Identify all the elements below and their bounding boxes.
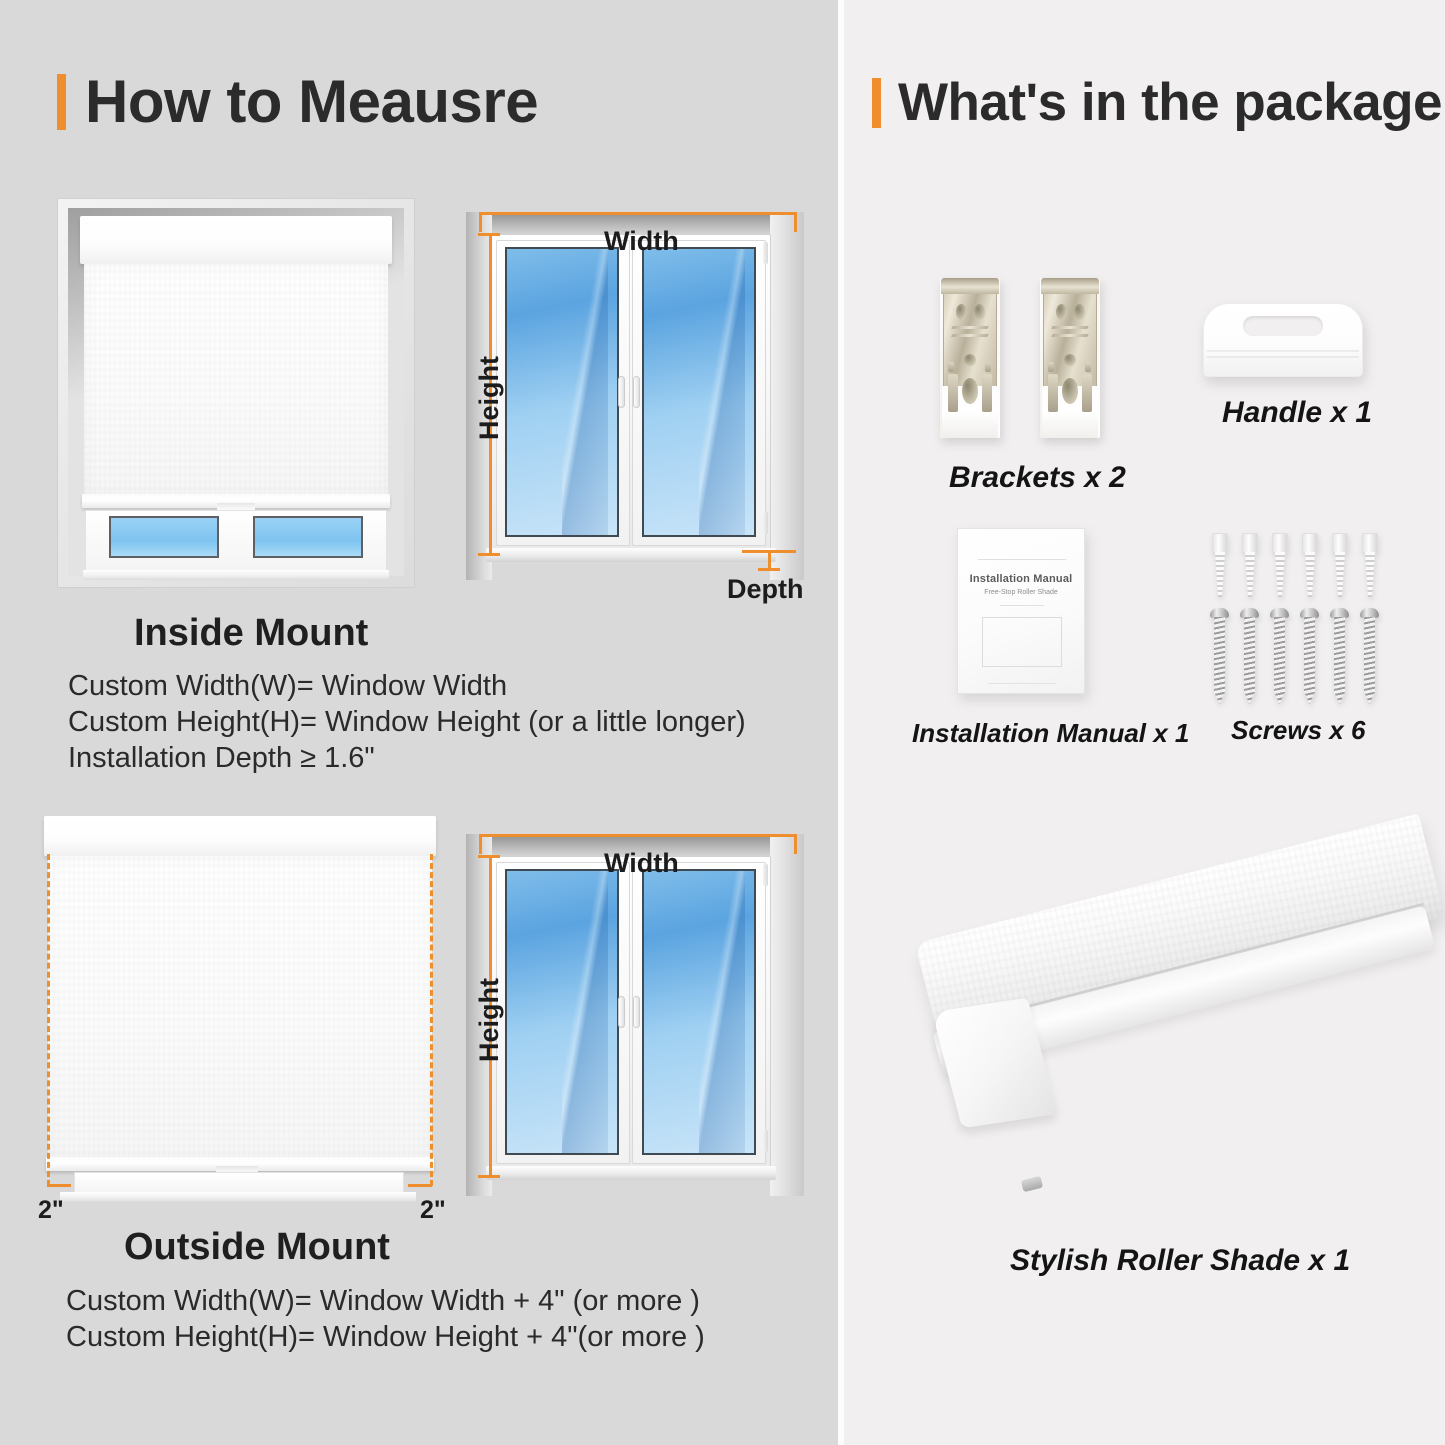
screws-label: Screws x 6 [1231,715,1365,746]
bracket-center-hole-2 [1062,378,1078,404]
window-handle-right-2 [633,996,640,1028]
window-hinge-top [763,242,768,264]
heading-left-text: How to Meausre [85,72,538,132]
bracket-hole-2c [1064,354,1076,366]
overhang-right-label: 2" [420,1196,446,1225]
anchor-head-5 [1332,533,1348,553]
screw-shaft-6 [1364,617,1375,704]
wall-anchor-2 [1242,533,1258,597]
window-hinge-top-2 [763,864,768,886]
bracket-hole-1b [974,304,985,320]
height-measure-cap-top-2 [478,855,500,858]
bracket-hole-1a [956,304,967,320]
anchor-head-2 [1242,533,1258,553]
depth-label: Depth [727,574,804,605]
screw-shaft-5 [1334,617,1345,704]
manual-cover-subtitle: Free-Stop Roller Shade [958,589,1084,596]
anchor-body-1 [1215,552,1225,597]
bracket-side-slot-1a [948,374,958,412]
depth-measure-stem [768,550,771,570]
handle-ridge-2 [1207,356,1359,358]
bracket-rib-4 [1051,334,1089,337]
anchor-body-6 [1365,552,1375,597]
reveal-right-2 [770,834,804,1196]
wall-anchor-1 [1212,533,1228,597]
screw-shaft-3 [1274,617,1285,704]
overhang-guide-right [430,854,433,1186]
wall-anchor-4 [1302,533,1318,597]
bracket-center-hole-1 [962,378,978,404]
height-label: Height [474,356,505,440]
window-glass-left-2 [505,869,619,1155]
heading-right-text: What's in the package [898,76,1442,129]
overhang-guide-left [47,854,50,1186]
headrail-outside [44,816,436,856]
manual-cover-image-box [982,617,1062,667]
bracket-slot-2b [1085,362,1091,372]
screw-4 [1302,608,1317,704]
width-measure-cap-left [479,212,482,232]
bracket-top-flange-2 [1041,278,1099,294]
window-hinge-bottom-2 [763,1130,768,1152]
window-handle-left [618,376,625,408]
bracket-rib-3 [1051,326,1089,329]
outside-mount-window-diagram: Width Height [452,822,822,1214]
inside-mount-line-1: Custom Width(W)= Window Width [68,670,507,703]
glass-pane-left [109,516,219,558]
installation-manual-label: Installation Manual x 1 [912,718,1189,749]
anchor-head-3 [1272,533,1288,553]
wall-anchor-3 [1272,533,1288,597]
height-label-2: Height [474,978,505,1062]
window-sill-diagram [486,548,776,562]
bracket-hole-2a [1056,304,1067,320]
anchor-head-1 [1212,533,1228,553]
overhang-left-label: 2" [38,1196,64,1225]
screw-1 [1212,608,1227,704]
screw-head-6 [1360,608,1379,618]
height-measure-cap-top [478,233,500,236]
screw-head-5 [1330,608,1349,618]
width-measure-cap-right-2 [794,834,797,854]
width-label: Width [604,226,679,257]
screw-head-4 [1300,608,1319,618]
reveal-right [770,212,804,580]
outside-mount-title: Outside Mount [124,1226,390,1269]
bracket-rib-2 [951,334,989,337]
screw-shaft-1 [1214,617,1225,704]
roller-shade-pin [1021,1176,1043,1192]
outside-mount-shade-illustration [38,810,438,1205]
screw-6 [1362,608,1377,704]
screw-2 [1242,608,1257,704]
screw-head-3 [1270,608,1289,618]
width-measure-cap-right [794,212,797,232]
inside-mount-line-2: Custom Height(H)= Window Height (or a li… [68,706,746,739]
bracket-slot-2a [1048,362,1054,372]
width-measure-line-2 [479,834,797,837]
bracket-hole-1c [964,354,976,366]
anchor-body-3 [1275,552,1285,597]
roller-shade-label: Stylish Roller Shade x 1 [1010,1244,1350,1278]
overhang-measure-left [47,1184,71,1187]
window-sill-diagram-2 [486,1166,776,1180]
screw-5 [1332,608,1347,704]
bracket-side-slot-2a [1048,374,1058,412]
anchor-body-4 [1305,552,1315,597]
shade-fabric [84,264,388,497]
window-glass-right [642,247,756,537]
window-handle-right [633,376,640,408]
bracket-item-2 [1040,278,1100,438]
accent-bar-icon-2 [872,78,881,128]
anchor-head-4 [1302,533,1318,553]
window-handle-left-2 [618,996,625,1028]
wall-anchor-5 [1332,533,1348,597]
screw-head-1 [1210,608,1229,618]
glass-pane-right [253,516,363,558]
outside-mount-line-1: Custom Width(W)= Window Width + 4" (or m… [66,1285,700,1318]
manual-rule-mid [1000,605,1044,606]
window-hinge-bottom [763,512,768,534]
screw-shaft-2 [1244,617,1255,704]
overhang-measure-right [408,1184,432,1187]
infographic-page: How to Meausre Width [0,0,1445,1445]
handle-body [1203,303,1363,377]
inside-mount-shade-illustration [57,198,415,588]
bracket-rib-1 [951,326,989,329]
bracket-side-slot-1b [982,374,992,412]
heading-whats-in-package: What's in the package [872,76,1442,129]
handle-item [1203,303,1363,377]
bracket-hole-2b [1074,304,1085,320]
inside-mount-title: Inside Mount [134,612,368,655]
anchor-head-6 [1362,533,1378,553]
headrail [80,216,392,264]
height-measure-cap-bottom-2 [478,1175,500,1178]
shade-fabric-outside [48,856,432,1161]
handle-grip-hole [1243,316,1323,336]
bracket-item-1 [940,278,1000,438]
anchor-body-5 [1335,552,1345,597]
screw-shaft-4 [1304,617,1315,704]
screw-head-2 [1240,608,1259,618]
anchor-body-2 [1245,552,1255,597]
window-sill [83,570,389,580]
heading-how-to-measure: How to Meausre [57,72,538,132]
window-glass-left [505,247,619,537]
bracket-side-slot-2b [1082,374,1092,412]
bracket-slot-1b [985,362,991,372]
inside-mount-line-3: Installation Depth ≥ 1.6" [68,742,375,775]
outside-mount-line-2: Custom Height(H)= Window Height + 4"(or … [66,1321,705,1354]
window-glass-right-2 [642,869,756,1155]
screw-3 [1272,608,1287,704]
height-measure-cap-bottom [478,553,500,556]
accent-bar-icon [57,74,66,130]
manual-cover-title: Installation Manual [958,573,1084,585]
handle-ridge-1 [1207,350,1359,352]
installation-manual-item: Installation Manual Free-Stop Roller Sha… [957,528,1085,694]
depth-measure-cap [758,568,780,571]
bracket-slot-1a [948,362,954,372]
handle-label: Handle x 1 [1222,396,1372,430]
width-label-2: Width [604,848,679,879]
width-measure-line [479,212,797,215]
roller-shade-photo [900,890,1440,1220]
manual-footer-rule [988,683,1056,684]
window-below-shade [74,1172,404,1194]
wall-anchor-6 [1362,533,1378,597]
manual-rule-top [978,559,1066,560]
brackets-label: Brackets x 2 [949,461,1126,495]
window-sill-outside [60,1192,416,1202]
bracket-top-flange-1 [941,278,999,294]
width-measure-cap-left-2 [479,834,482,854]
inside-mount-window-diagram: Width Height Depth [452,200,822,600]
